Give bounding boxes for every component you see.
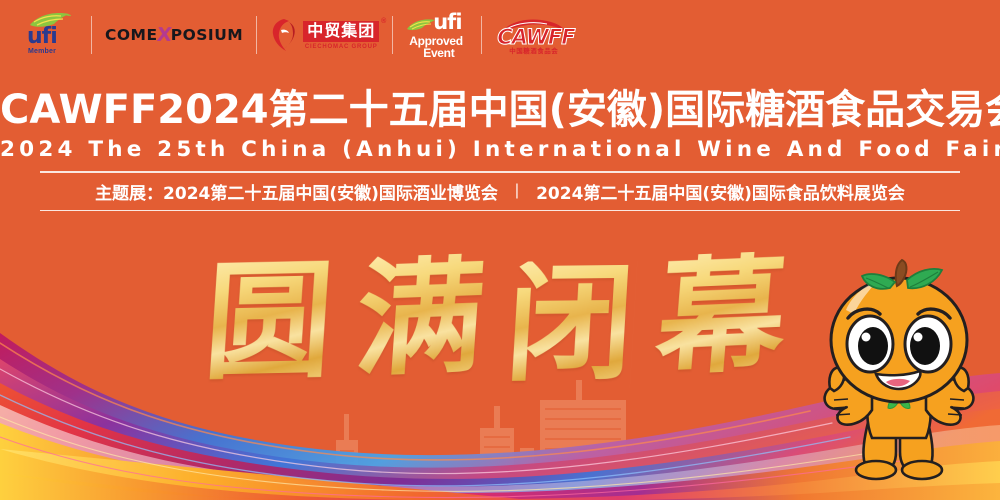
theme-second-label: 2024第二十五届中国(安徽)国际食品饮料展览会	[536, 179, 905, 204]
cawff-subtext: 中国糖酒食品会	[509, 45, 558, 55]
orange-mascot	[800, 258, 996, 486]
page-title-english: 2024 The 25th China (Anhui) Internationa…	[0, 135, 1000, 165]
calligraphy-char-2: 满	[351, 252, 488, 384]
ufi-approved-wing-icon	[406, 18, 436, 32]
comexposium-x-icon: X	[155, 24, 172, 46]
ufi-member-text: ufi	[27, 26, 57, 48]
cawff-logo: CAWFF 中国糖酒食品会	[495, 15, 567, 55]
headline-block: CAWFF2024第二十五届中国(安徽)国际糖酒食品交易会 2024 The 2…	[0, 85, 1000, 211]
theme-exhibition-inner: 主题展：2024第二十五届中国(安徽)国际酒业博览会 | 2024第二十五届中国…	[40, 173, 960, 210]
ciec-chinese-name: 中贸集团	[303, 21, 379, 42]
calligraphy-char-3: 闭	[502, 260, 638, 389]
ciec-group-logo: 中贸集团 CIECHOMAC GROUP ®	[270, 18, 379, 52]
theme-exhibition-row: 主题展：2024第二十五届中国(安徽)国际酒业博览会 | 2024第二十五届中国…	[40, 171, 960, 211]
ciec-english-name: CIECHOMAC GROUP	[303, 44, 379, 50]
comexposium-text-left: COME	[105, 26, 158, 44]
comexposium-logo: COMEXPOSIUM	[105, 22, 243, 48]
ufi-member-logo: ufi Member	[22, 9, 78, 61]
calligraphy-char-1: 圆	[201, 257, 338, 388]
logo-divider	[481, 16, 482, 54]
divider-line-bottom	[40, 210, 960, 212]
calligraphy-headline: 圆 满 闭 幕	[205, 250, 785, 395]
logo-divider	[91, 16, 92, 54]
calligraphy-char-4: 幕	[652, 250, 791, 383]
logo-divider	[392, 16, 393, 54]
comexposium-text-right: POSIUM	[171, 26, 243, 44]
theme-label: 主题展：2024第二十五届中国(安徽)国际酒业博览会	[95, 179, 498, 204]
registered-trademark-icon: ®	[381, 18, 386, 25]
ufi-approved-text: ufi	[433, 12, 461, 33]
ciec-emblem-icon	[270, 18, 298, 52]
ufi-approved-line3: Event	[423, 46, 454, 60]
logo-divider	[256, 16, 257, 54]
page-title-chinese: CAWFF2024第二十五届中国(安徽)国际糖酒食品交易会	[0, 85, 1000, 135]
theme-divider: |	[515, 182, 519, 200]
ufi-approved-event-logo: ufi Approved Event	[406, 8, 468, 62]
poster-banner: ufi Member COMEXPOSIUM 中贸集团 CIECHOMAC GR…	[0, 0, 1000, 500]
ciec-text-block: 中贸集团 CIECHOMAC GROUP ®	[303, 21, 379, 50]
sponsor-logo-strip: ufi Member COMEXPOSIUM 中贸集团 CIECHOMAC GR…	[0, 0, 1000, 70]
ufi-member-subtext: Member	[28, 48, 56, 55]
